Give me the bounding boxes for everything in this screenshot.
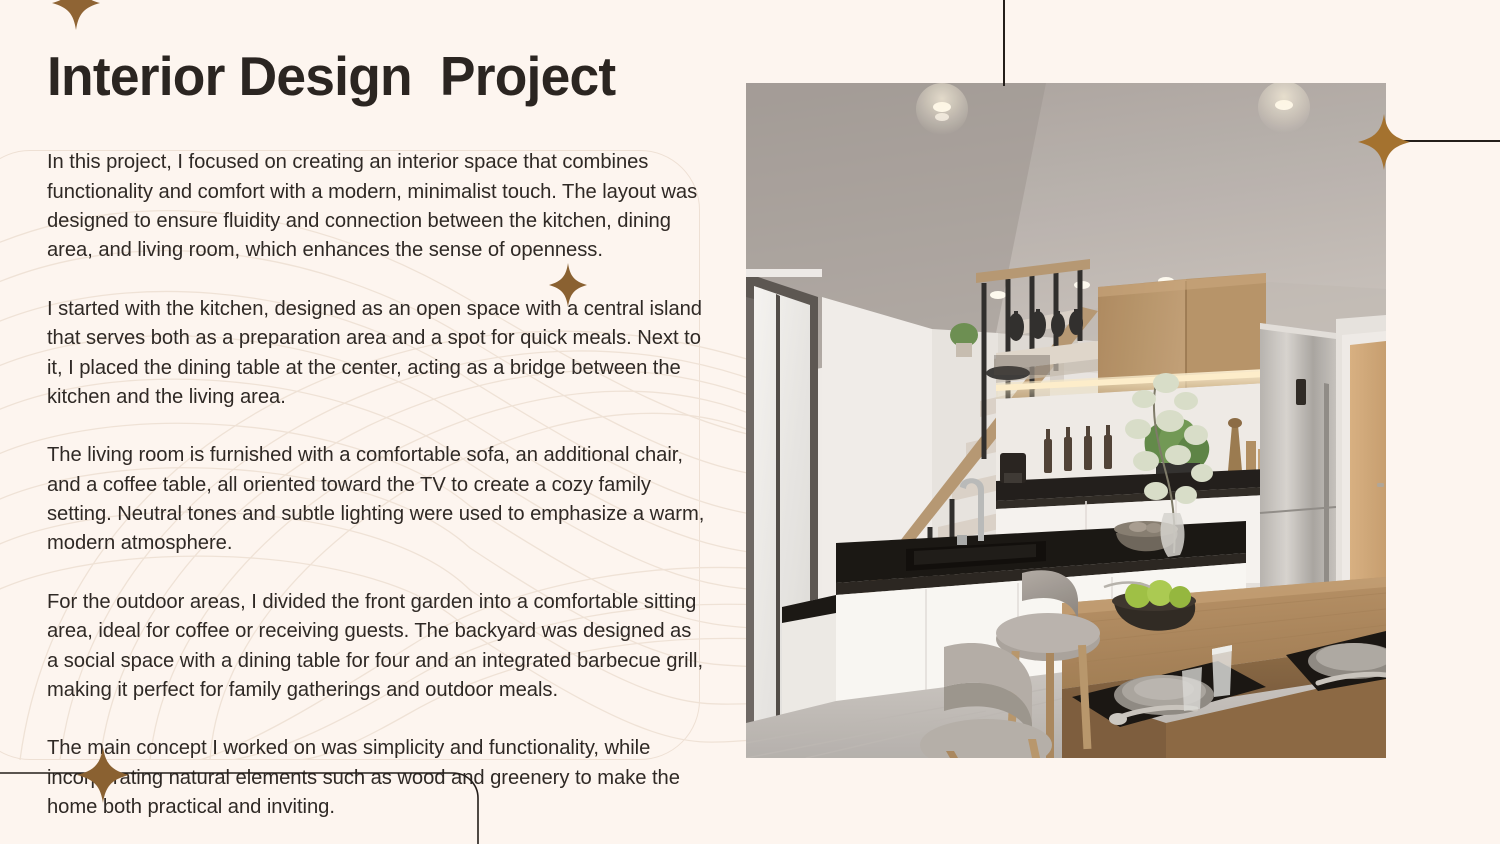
interior-render-illustration — [746, 83, 1386, 758]
paragraph-intro: In this project, I focused on creating a… — [47, 148, 707, 265]
project-description: In this project, I focused on creating a… — [47, 119, 707, 844]
paragraph-kitchen: I started with the kitchen, designed as … — [47, 295, 707, 412]
paragraph-concept: The main concept I worked on was simplic… — [47, 734, 707, 822]
interior-render-photo — [746, 83, 1386, 758]
sparkle-icon-top — [52, 0, 100, 30]
paragraph-livingroom: The living room is furnished with a comf… — [47, 441, 707, 558]
paragraph-outdoor: For the outdoor areas, I divided the fro… — [47, 588, 707, 705]
top-vertical-accent-line — [1003, 0, 1005, 86]
slide-canvas: Interior Design Project In this project,… — [0, 0, 1500, 844]
text-column: Interior Design Project In this project,… — [47, 48, 707, 844]
right-horizontal-accent-line — [1389, 140, 1500, 142]
page-title: Interior Design Project — [47, 48, 687, 105]
